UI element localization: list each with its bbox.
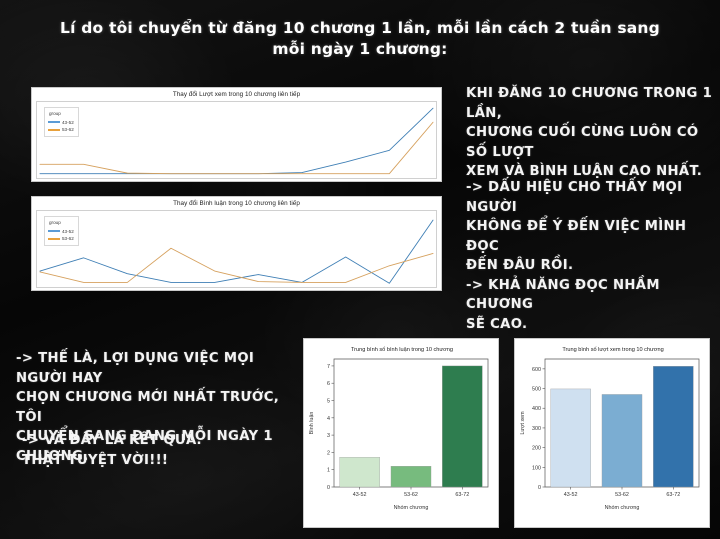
line-chart-views — [37, 102, 436, 178]
plot-area-bar-comments: Trung bình số bình luận trong 10 chương0… — [304, 339, 499, 517]
note-bottom-left-result: -> VÀ ĐÂY LÀ KẾT QUẢ. THẬT TUYỆT VỜI!!! — [22, 431, 308, 470]
svg-text:Nhóm chương: Nhóm chương — [605, 505, 640, 511]
legend-title: group — [48, 110, 74, 118]
svg-text:53-62: 53-62 — [615, 492, 629, 498]
plot-area-bar-views: Trung bình số lượt xem trong 10 chương01… — [515, 339, 710, 517]
legend-swatch-blue — [48, 230, 60, 232]
legend-swatch-blue — [48, 121, 60, 123]
note-top-right: KHI ĐĂNG 10 CHƯƠNG TRONG 1 LẦN, CHƯƠNG C… — [466, 84, 714, 182]
svg-text:300: 300 — [532, 426, 541, 432]
chart-panel-bar-views: Trung bình số lượt xem trong 10 chương01… — [514, 338, 710, 528]
legend-label: 53-62 — [62, 235, 74, 243]
bar-chart-views: Trung bình số lượt xem trong 10 chương01… — [515, 339, 710, 517]
bar-chart-comments: Trung bình số bình luận trong 10 chương0… — [304, 339, 499, 517]
svg-text:7: 7 — [327, 364, 330, 370]
svg-text:400: 400 — [532, 406, 541, 412]
note-mid-right: -> DẤU HIỆU CHO THẤY MỌI NGƯỜI KHÔNG ĐỂ … — [466, 178, 714, 334]
svg-text:Lượt xem: Lượt xem — [520, 411, 526, 435]
legend-item: 43-52 — [48, 119, 74, 127]
legend-label: 43-52 — [62, 119, 74, 127]
svg-text:0: 0 — [327, 485, 330, 491]
svg-text:63-72: 63-72 — [455, 492, 469, 498]
svg-text:5: 5 — [327, 399, 330, 405]
svg-text:3: 3 — [327, 433, 330, 439]
svg-text:1: 1 — [327, 468, 330, 474]
legend-item: 53-62 — [48, 126, 74, 134]
svg-text:200: 200 — [532, 446, 541, 452]
legend-views-line: group 43-52 53-62 — [44, 107, 79, 137]
legend-swatch-orange — [48, 129, 60, 131]
svg-text:Nhóm chương: Nhóm chương — [394, 505, 429, 511]
svg-text:6: 6 — [327, 381, 330, 387]
svg-text:43-52: 43-52 — [564, 492, 578, 498]
plot-area-views-line: group 43-52 53-62 — [36, 101, 437, 179]
svg-text:4: 4 — [327, 416, 330, 422]
chart-panel-comments-line: Thay đổi Bình luận trong 10 chương liên … — [31, 196, 442, 291]
chart-title-views-line: Thay đổi Lượt xem trong 10 chương liên t… — [32, 88, 441, 99]
legend-item: 53-62 — [48, 235, 74, 243]
svg-text:43-52: 43-52 — [353, 492, 367, 498]
chart-title-comments-line: Thay đổi Bình luận trong 10 chương liên … — [32, 197, 441, 208]
svg-text:600: 600 — [532, 367, 541, 373]
svg-text:Trung bình số lượt xem trong 1: Trung bình số lượt xem trong 10 chương — [562, 347, 663, 353]
svg-text:53-62: 53-62 — [404, 492, 418, 498]
chart-panel-views-line: Thay đổi Lượt xem trong 10 chương liên t… — [31, 87, 442, 182]
legend-item: 43-52 — [48, 228, 74, 236]
legend-title: group — [48, 219, 74, 227]
page-title: Lí do tôi chuyển từ đăng 10 chương 1 lần… — [0, 18, 720, 60]
legend-comments-line: group 43-52 53-62 — [44, 216, 79, 246]
plot-area-comments-line: group 43-52 53-62 — [36, 210, 437, 288]
svg-text:Trung bình số bình luận trong: Trung bình số bình luận trong 10 chương — [351, 347, 453, 353]
svg-text:500: 500 — [532, 387, 541, 393]
svg-text:100: 100 — [532, 465, 541, 471]
svg-text:Bình luận: Bình luận — [309, 412, 315, 435]
svg-text:2: 2 — [327, 450, 330, 456]
svg-text:63-72: 63-72 — [666, 492, 680, 498]
chart-panel-bar-comments: Trung bình số bình luận trong 10 chương0… — [303, 338, 499, 528]
headline-line-2: mỗi ngày 1 chương: — [0, 39, 720, 60]
svg-text:0: 0 — [538, 485, 541, 491]
line-chart-comments — [37, 211, 436, 287]
legend-swatch-orange — [48, 238, 60, 240]
legend-label: 43-52 — [62, 228, 74, 236]
headline-line-1: Lí do tôi chuyển từ đăng 10 chương 1 lần… — [60, 19, 660, 37]
legend-label: 53-62 — [62, 126, 74, 134]
